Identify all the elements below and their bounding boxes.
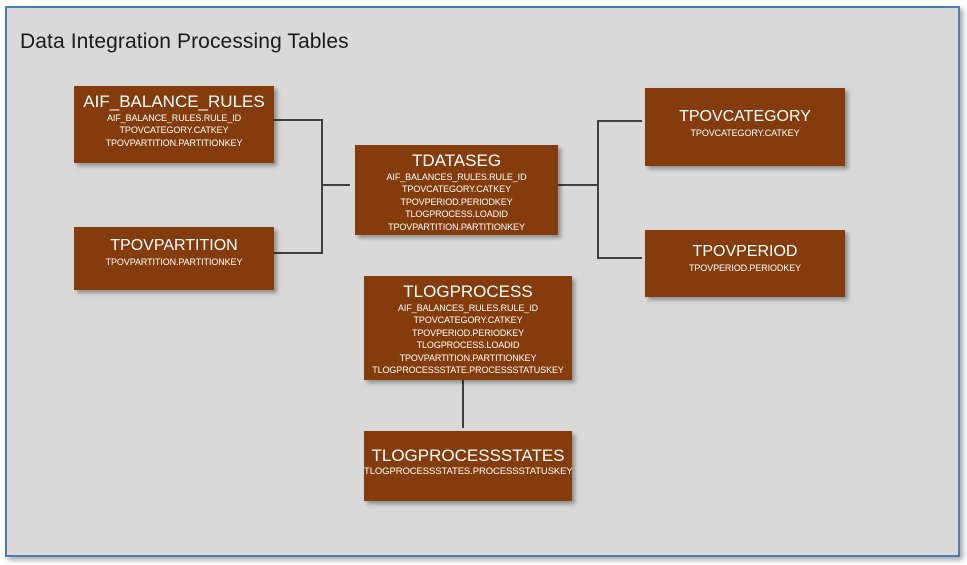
connector-tdataseg-to-tpovcategory xyxy=(553,121,642,185)
entity-field: TPOVPERIOD.PERIODKEY xyxy=(645,262,845,275)
entity-field: AIF_BALANCE_RULES.RULE_ID xyxy=(74,112,274,125)
entity-box-tpovperiod[interactable]: TPOVPERIOD TPOVPERIOD.PERIODKEY xyxy=(645,230,845,297)
entity-title: TPOVPERIOD xyxy=(645,244,845,261)
connector-tdataseg-to-tpovperiod xyxy=(598,185,642,258)
entity-title: TDATASEG xyxy=(355,152,558,170)
connector-aif-to-tdataseg xyxy=(269,120,350,185)
entity-field: TPOVCATEGORY.CATKEY xyxy=(355,183,558,196)
entity-field: TPOVPARTITION.PARTITIONKEY xyxy=(364,352,572,365)
entity-field-list: AIF_BALANCES_RULES.RULE_ID TPOVCATEGORY.… xyxy=(364,302,572,377)
entity-field-list: TPOVCATEGORY.CATKEY xyxy=(645,127,845,140)
entity-field: TPOVPERIOD.PERIODKEY xyxy=(364,327,572,340)
entity-field-list: TPOVPERIOD.PERIODKEY xyxy=(645,262,845,275)
entity-title: TLOGPROCESSSTATES xyxy=(364,447,572,465)
entity-field: AIF_BALANCES_RULES.RULE_ID xyxy=(355,171,558,184)
entity-box-tlogprocessstates[interactable]: TLOGPROCESSSTATES TLOGPROCESSSTATES.PROC… xyxy=(364,431,572,501)
entity-box-tpovpartition[interactable]: TPOVPARTITION TPOVPARTITION.PARTITIONKEY xyxy=(74,227,274,290)
entity-box-tlogprocess[interactable]: TLOGPROCESS AIF_BALANCES_RULES.RULE_ID T… xyxy=(364,276,572,380)
entity-field: TPOVPERIOD.PERIODKEY xyxy=(355,196,558,209)
entity-box-tdataseg[interactable]: TDATASEG AIF_BALANCES_RULES.RULE_ID TPOV… xyxy=(355,145,558,235)
entity-field-list: TLOGPROCESSSTATES.PROCESSSTATUSKEY xyxy=(364,466,572,479)
entity-field: TLOGPROCESS.LOADID xyxy=(364,339,572,352)
slide-canvas: Data Integration Processing Tables AIF_B… xyxy=(0,0,967,565)
slide-frame: Data Integration Processing Tables AIF_B… xyxy=(5,6,960,557)
entity-field: TLOGPROCESS.LOADID xyxy=(355,208,558,221)
entity-field: TLOGPROCESSSTATES.PROCESSSTATUSKEY xyxy=(364,466,572,479)
entity-title: TPOVCATEGORY xyxy=(645,109,845,126)
entity-field: TPOVPARTITION.PARTITIONKEY xyxy=(355,221,558,234)
entity-field: TPOVCATEGORY.CATKEY xyxy=(645,127,845,140)
connector-tpovpartition-to-tdataseg xyxy=(269,185,322,253)
entity-field-list: AIF_BALANCES_RULES.RULE_ID TPOVCATEGORY.… xyxy=(355,171,558,234)
entity-field: AIF_BALANCES_RULES.RULE_ID xyxy=(364,302,572,315)
entity-title: TPOVPARTITION xyxy=(74,238,274,255)
entity-box-tpovcategory[interactable]: TPOVCATEGORY TPOVCATEGORY.CATKEY xyxy=(645,88,845,166)
entity-field: TPOVPARTITION.PARTITIONKEY xyxy=(74,256,274,269)
entity-field: TLOGPROCESSSTATE.PROCESSSTATUSKEY xyxy=(364,364,572,377)
entity-field: TPOVCATEGORY.CATKEY xyxy=(74,124,274,137)
entity-box-aif-balance-rules[interactable]: AIF_BALANCE_RULES AIF_BALANCE_RULES.RULE… xyxy=(74,86,274,163)
page-title: Data Integration Processing Tables xyxy=(20,30,349,54)
entity-field: TPOVCATEGORY.CATKEY xyxy=(364,314,572,327)
entity-field: TPOVPARTITION.PARTITIONKEY xyxy=(74,137,274,150)
entity-title: AIF_BALANCE_RULES xyxy=(74,93,274,111)
entity-field-list: AIF_BALANCE_RULES.RULE_ID TPOVCATEGORY.C… xyxy=(74,112,274,150)
entity-title: TLOGPROCESS xyxy=(364,283,572,301)
entity-field-list: TPOVPARTITION.PARTITIONKEY xyxy=(74,256,274,269)
